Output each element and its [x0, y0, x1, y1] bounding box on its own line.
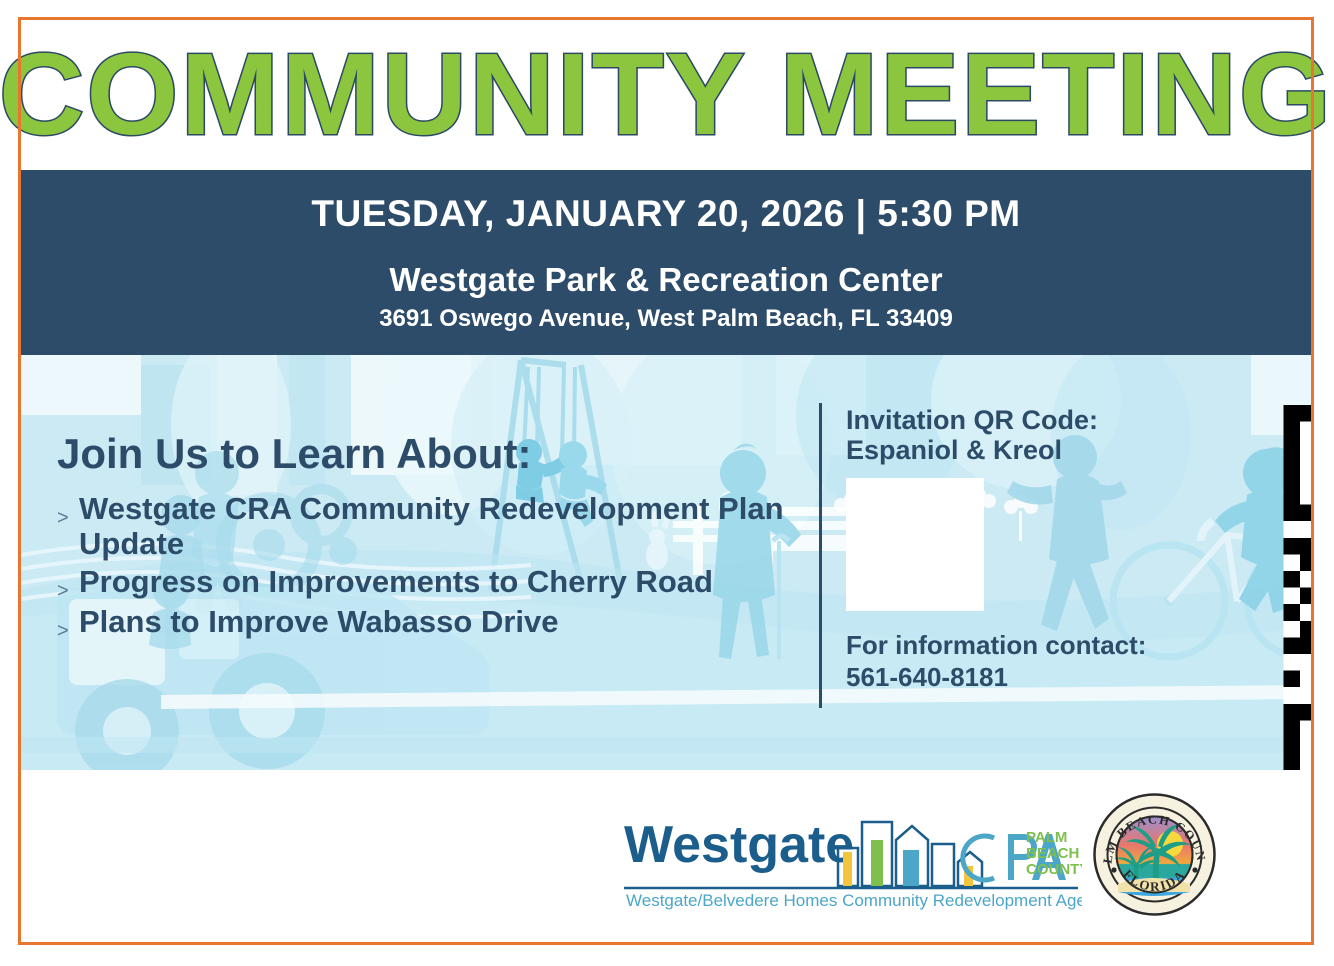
westgate-cra-logo: Westgate CRA — [622, 800, 1082, 910]
event-details-band: TUESDAY, JANUARY 20, 2026 | 5:30 PM West… — [21, 170, 1311, 355]
event-address: 3691 Oswego Avenue, West Palm Beach, FL … — [379, 305, 953, 333]
agenda-item-text: Westgate CRA Community Redevelopment Pla… — [79, 492, 817, 561]
westgate-tagline: Westgate/Belvedere Homes Community Redev… — [626, 891, 1082, 910]
chevron-right-icon: > — [57, 565, 79, 601]
title-banner: COMMUNITY MEETING — [21, 20, 1311, 167]
list-item: > Plans to Improve Wabasso Drive — [57, 605, 817, 641]
agenda-block: Join Us to Learn About: > Westgate CRA C… — [57, 430, 817, 645]
agenda-heading: Join Us to Learn About: — [57, 430, 817, 478]
agenda-item-text: Plans to Improve Wabasso Drive — [79, 605, 559, 640]
county-line2: BEACH — [1026, 845, 1079, 862]
footer: Westgate CRA — [21, 770, 1311, 942]
county-line3: COUNTY — [1026, 861, 1082, 878]
flyer-root: COMMUNITY MEETING TUESDAY, JANUARY 20, 2… — [0, 0, 1334, 966]
event-venue: Westgate Park & Recreation Center — [389, 261, 942, 299]
chevron-right-icon: > — [57, 492, 79, 528]
qr-code-image[interactable] — [846, 478, 984, 611]
logo-row: Westgate CRA — [622, 792, 1217, 917]
qr-block: Invitation QR Code: Espaniol & Kreol — [846, 405, 1266, 693]
page-title: COMMUNITY MEETING — [0, 36, 1333, 152]
list-item: > Westgate CRA Community Redevelopment P… — [57, 492, 817, 561]
agenda-item-text: Progress on Improvements to Cherry Road — [79, 565, 713, 600]
qr-code-svg — [846, 405, 1311, 770]
palm-beach-county-seal: PALM BEACH COUNTY FLORIDA — [1092, 792, 1217, 917]
event-date-time: TUESDAY, JANUARY 20, 2026 | 5:30 PM — [311, 193, 1020, 235]
illustration-band: Join Us to Learn About: > Westgate CRA C… — [21, 355, 1311, 770]
vertical-divider — [819, 403, 822, 708]
list-item: > Progress on Improvements to Cherry Roa… — [57, 565, 817, 601]
agenda-list: > Westgate CRA Community Redevelopment P… — [57, 492, 817, 641]
chevron-right-icon: > — [57, 605, 79, 641]
westgate-wordmark-text: Westgate — [624, 816, 854, 874]
county-line1: PALM — [1026, 829, 1067, 846]
